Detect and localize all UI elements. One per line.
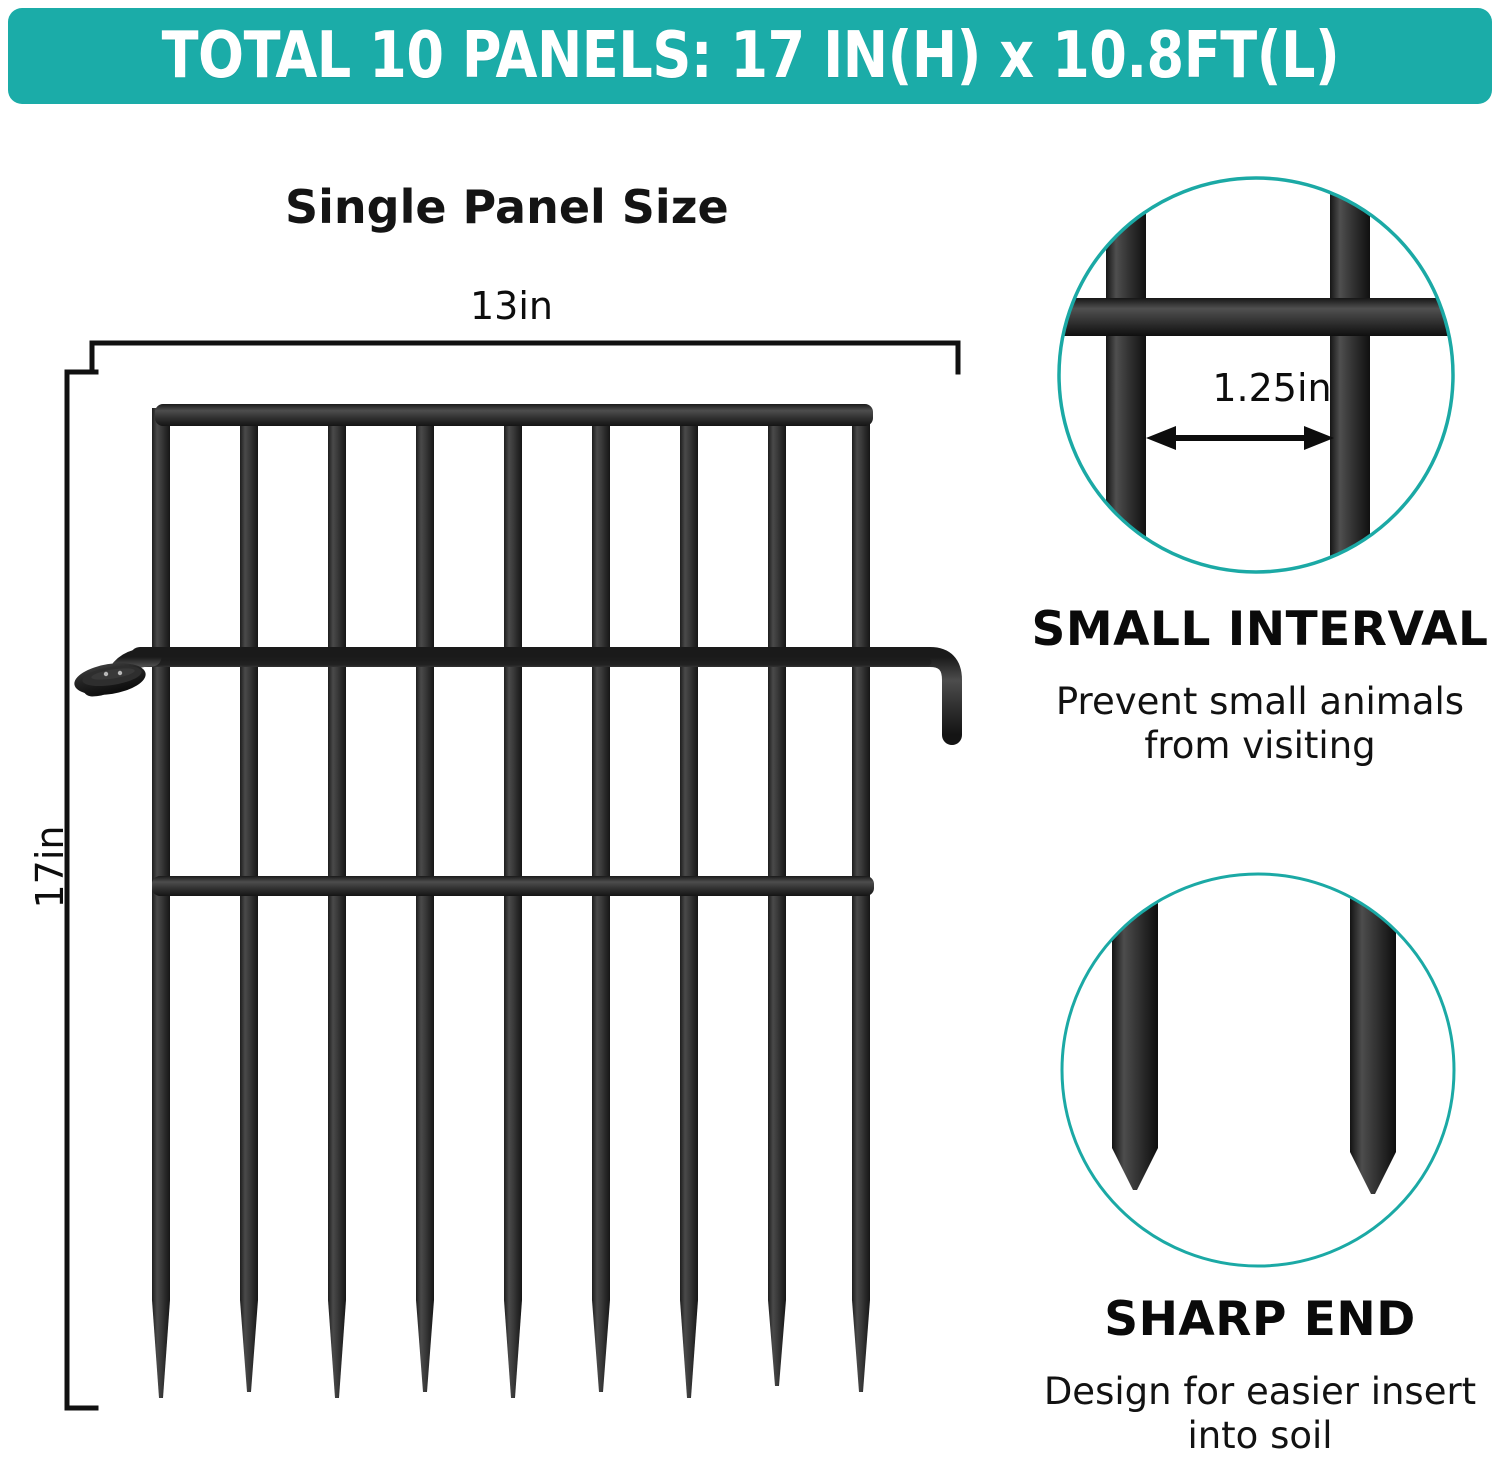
width-dimension-label: 13in (470, 284, 553, 328)
sharp-end-subtitle-line-2: into soil (1020, 1414, 1500, 1457)
fence-lower-rail (152, 876, 874, 896)
interval-measurement-label: 1.25in (1032, 366, 1500, 410)
width-bracket (92, 343, 958, 372)
interval-measurement-arrow (1146, 426, 1334, 450)
banner-title: TOTAL 10 PANELS: 17 IN(H) x 10.8FT(L) (161, 19, 1339, 93)
fence-vertical-bars (152, 408, 870, 1398)
callout-small-interval: 1.25in SMALL INTERVAL Prevent small anim… (1020, 170, 1500, 810)
fence-middle-rail-with-hook (72, 657, 952, 735)
small-interval-subtitle-line-2: from visiting (1020, 724, 1500, 768)
page-title: Single Panel Size (285, 180, 729, 234)
small-interval-subtitle-line-1: Prevent small animals (1020, 680, 1500, 724)
sharp-end-heading: SHARP END (1020, 1292, 1500, 1347)
mesh-horizontal-bar (1020, 298, 1500, 336)
sharp-end-detail-graphic (1020, 860, 1500, 1280)
callout-sharp-end: SHARP END Design for easier insert into … (1020, 860, 1500, 1440)
stake-spike (1350, 874, 1396, 1194)
small-interval-subtitle: Prevent small animals from visiting (1020, 680, 1500, 767)
fence-loop-connector (72, 659, 148, 700)
header-banner: TOTAL 10 PANELS: 17 IN(H) x 10.8FT(L) (8, 8, 1492, 104)
small-interval-heading: SMALL INTERVAL (1020, 602, 1500, 657)
sharp-end-subtitle: Design for easier insert into soil (1020, 1370, 1500, 1457)
sharp-end-subtitle-line-1: Design for easier insert (1020, 1370, 1500, 1414)
fence-top-rail (155, 404, 873, 426)
height-dimension-label: 17in (28, 807, 72, 927)
